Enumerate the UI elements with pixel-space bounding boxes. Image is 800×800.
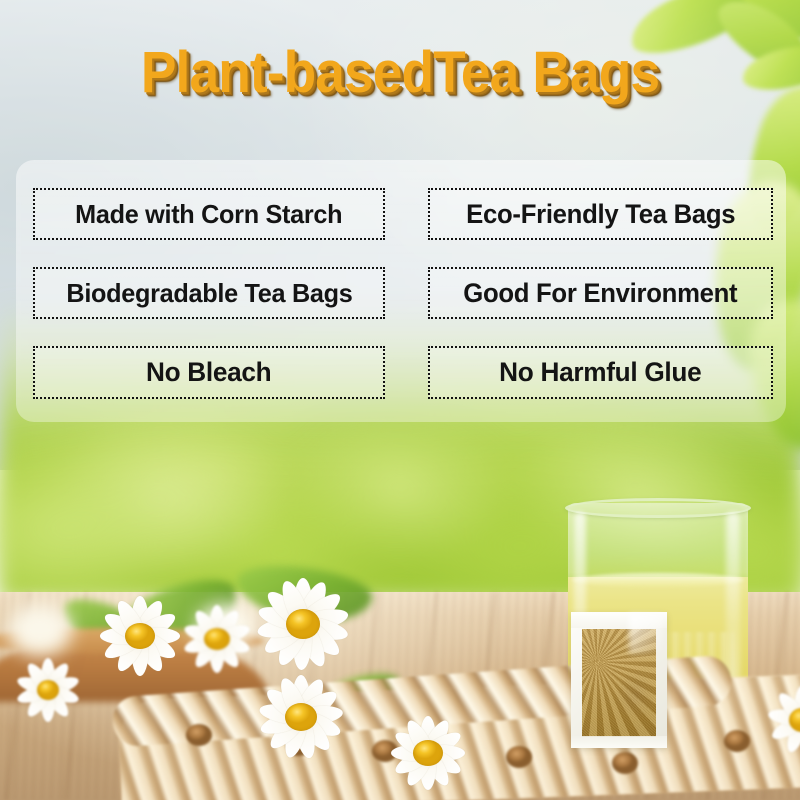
plant-based-tea-bag [571, 612, 667, 748]
feature-box-made-with-corn-starch[interactable]: Made with Corn Starch [33, 188, 385, 240]
mat-knot [724, 730, 750, 752]
flower-center [413, 740, 443, 766]
flower-center [125, 623, 155, 649]
page-title: Plant-basedTea Bags [32, 42, 768, 104]
feature-label: Eco-Friendly Tea Bags [466, 199, 735, 230]
feature-label: Good For Environment [463, 278, 737, 309]
flower-center [286, 609, 320, 639]
chamomile-flower [6, 650, 90, 730]
flower-center [37, 680, 59, 700]
flower-center [204, 628, 230, 650]
feature-label: No Bleach [146, 357, 271, 388]
tea-bag-highlight [629, 614, 663, 654]
feature-box-good-for-environment[interactable]: Good For Environment [428, 267, 773, 319]
mat-knot [506, 746, 532, 768]
feature-label: Made with Corn Starch [75, 199, 342, 230]
chamomile-flower [756, 676, 800, 764]
feature-grid: Made with Corn Starch Eco-Friendly Tea B… [33, 188, 773, 400]
feature-label: No Harmful Glue [499, 357, 701, 388]
feature-box-no-harmful-glue[interactable]: No Harmful Glue [428, 346, 773, 399]
poster-canvas: Plant-basedTea Bags Made with Corn Starc… [0, 0, 800, 800]
flower-center [285, 703, 317, 731]
tea-bag-bottom-seam [571, 736, 667, 748]
tea-surface [572, 573, 744, 587]
mat-knot [612, 752, 638, 774]
feature-box-eco-friendly-tea-bags[interactable]: Eco-Friendly Tea Bags [428, 188, 773, 240]
chamomile-flower [244, 664, 358, 770]
feature-label: Biodegradable Tea Bags [66, 278, 352, 309]
feature-box-biodegradable-tea-bags[interactable]: Biodegradable Tea Bags [33, 267, 385, 319]
blurred-flower [8, 604, 72, 656]
mat-knot [186, 724, 212, 746]
chamomile-flower [378, 706, 478, 800]
feature-box-no-bleach[interactable]: No Bleach [33, 346, 385, 399]
glass-rim [565, 498, 751, 518]
